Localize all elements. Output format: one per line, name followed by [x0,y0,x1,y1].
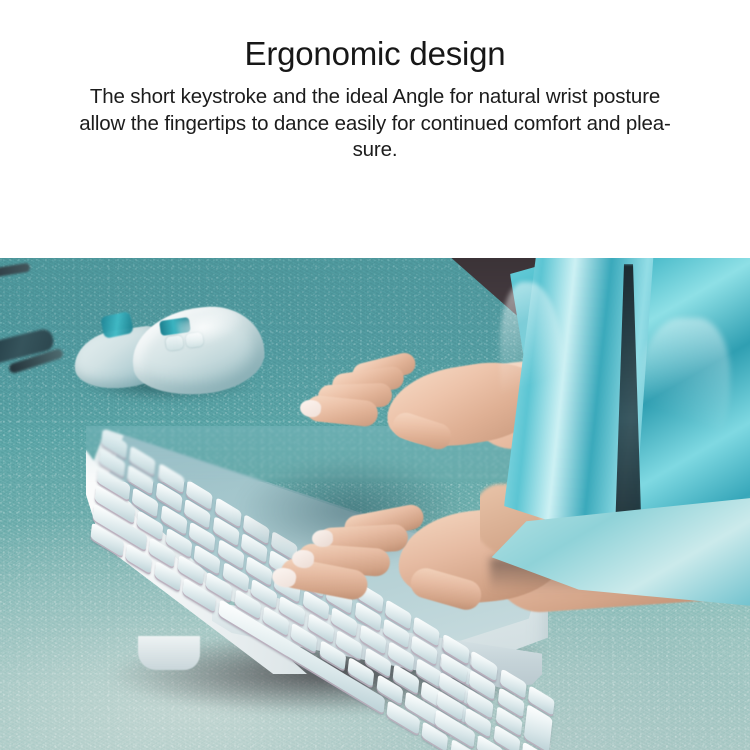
subtitle-line-3: sure. [22,137,728,164]
page-title: Ergonomic design [0,34,750,74]
subtitle-line-2: allow the fingertips to dance easily for… [22,111,728,138]
front-hand-fingernail-middle [312,529,334,547]
metallic-jacket-sleeve [480,258,750,750]
product-photo [0,258,750,750]
wireless-mouse [74,300,264,410]
subtitle-line-1: The short keystroke and the ideal Angle … [22,84,728,111]
intro-text-block: Ergonomic design The short keystroke and… [0,0,750,164]
page-subtitle: The short keystroke and the ideal Angle … [22,84,728,164]
